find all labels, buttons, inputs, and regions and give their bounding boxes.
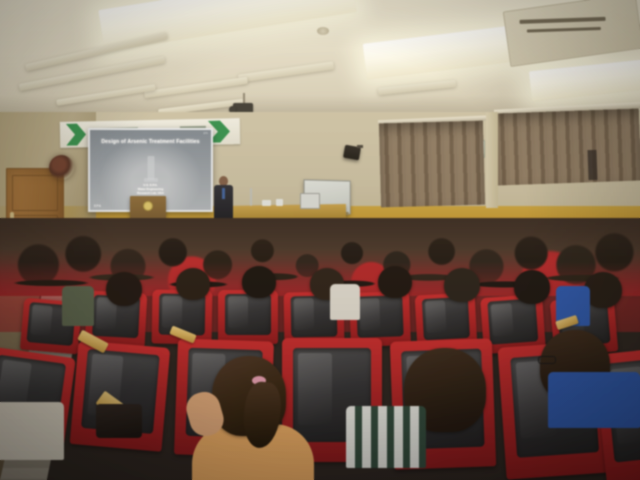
audience-body <box>548 372 640 428</box>
audience-head <box>106 272 142 306</box>
slide-graphic <box>147 156 154 180</box>
audience-body <box>62 286 94 326</box>
crowd-haze <box>0 218 640 258</box>
slide-title: Design of Arsenic Treatment Facilities <box>90 139 211 145</box>
audience-head <box>378 266 412 298</box>
microphone-stand <box>250 188 252 206</box>
wall-pillar <box>486 112 498 208</box>
slide-logo: EPA <box>94 204 101 208</box>
stage-equipment <box>276 199 283 206</box>
audience-head <box>514 270 550 304</box>
stage-equipment <box>262 200 271 206</box>
handbag <box>96 404 142 438</box>
audience-body-plaid <box>346 406 426 468</box>
slide-graphic-base <box>144 178 158 182</box>
audience-head <box>444 268 480 302</box>
smoke-detector-icon <box>317 27 329 35</box>
presenter <box>210 176 238 222</box>
podium-emblem <box>143 201 153 211</box>
curtain-gap <box>587 150 597 180</box>
audience-head <box>176 268 210 300</box>
stage-monitor <box>300 193 320 209</box>
lecture-hall-photo: Design of Arsenic Treatment Facilities U… <box>0 0 640 480</box>
window-curtain <box>495 109 640 186</box>
wreath-decoration <box>49 155 74 180</box>
slide-corner-mark: EPA <box>203 132 208 135</box>
audience-body <box>0 402 64 460</box>
eyeglasses-icon <box>538 356 556 364</box>
window-curtain <box>379 121 485 208</box>
audience-body <box>330 284 360 320</box>
speaker-bracket <box>357 145 363 148</box>
auditorium-seat[interactable] <box>218 290 278 344</box>
audience-head <box>242 266 276 298</box>
